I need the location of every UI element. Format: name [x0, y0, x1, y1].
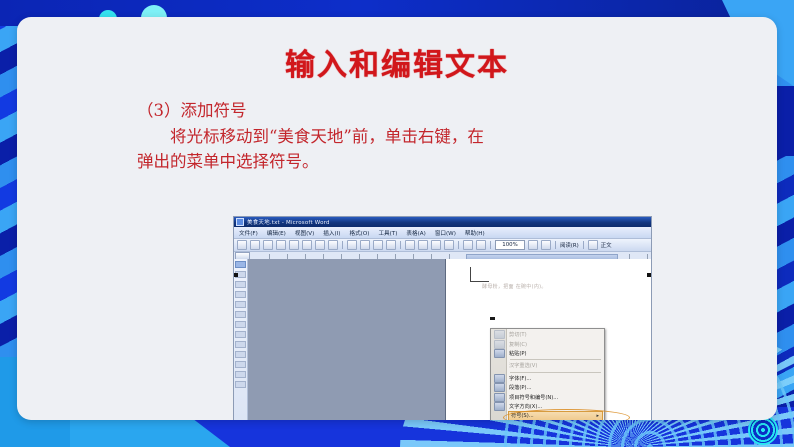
toolbar-tool-icon[interactable] — [235, 281, 246, 288]
menu-item-format[interactable]: 格式(O) — [349, 229, 369, 237]
format-painter-icon[interactable] — [386, 240, 396, 250]
word-application-screenshot: 美食天地.txt - Microsoft Word 文件(F) 编辑(E) 视图… — [233, 216, 652, 420]
menu-item-table[interactable]: 表格(A) — [406, 229, 425, 237]
word-gray-pane — [248, 259, 446, 420]
word-app-icon — [236, 218, 244, 226]
context-menu-items: 剪切(T) 复制(C) 粘贴(P) 汉字重选(V) — [507, 329, 604, 420]
toolbar-tool-icon[interactable] — [235, 301, 246, 308]
selection-handle[interactable] — [234, 273, 238, 277]
toolbar-tool-icon[interactable] — [235, 311, 246, 318]
text-cursor-marker — [470, 267, 489, 282]
spellcheck-icon[interactable] — [328, 240, 338, 250]
context-menu-item-copy[interactable]: 复制(C) — [507, 339, 604, 348]
print-icon[interactable] — [302, 240, 312, 250]
context-menu-label: 汉字重选(V) — [509, 362, 537, 369]
toolbar-separator — [583, 241, 584, 249]
redo-dropdown-icon[interactable] — [444, 240, 454, 250]
menu-item-edit[interactable]: 编辑(E) — [267, 229, 286, 237]
context-menu-item-font[interactable]: 字体(F)... — [507, 374, 604, 383]
context-menu-item-symbol[interactable]: 符号(S)... ▸ — [508, 411, 603, 420]
menu-item-window[interactable]: 窗口(W) — [435, 229, 456, 237]
help-icon[interactable] — [541, 240, 551, 250]
paste-icon[interactable] — [373, 240, 383, 250]
context-menu-label: 文字方向(X)... — [509, 403, 542, 410]
context-menu-label: 复制(C) — [509, 341, 527, 348]
toolbar-tool-icon[interactable] — [235, 381, 246, 388]
style-name-box[interactable]: 正文 — [601, 241, 612, 249]
word-title-text: 美食天地.txt - Microsoft Word — [247, 218, 330, 226]
context-menu-label: 段落(P)... — [509, 384, 532, 391]
cut-icon[interactable] — [347, 240, 357, 250]
word-document-body: 酵母粉，把面 在碗中(内)。 剪切(T) 复制(C) — [234, 259, 651, 420]
context-menu-label: 粘贴(P) — [509, 350, 527, 357]
font-icon — [494, 374, 505, 383]
paragraph-icon — [494, 383, 505, 392]
selection-marker — [490, 317, 495, 320]
slide-body: （3）添加符号 将光标移动到“美食天地”前，单击右键，在 弹出的菜单中选择符号。 — [137, 98, 677, 175]
styles-pane-icon[interactable] — [588, 240, 598, 250]
toolbar-separator — [555, 241, 556, 249]
redo-icon[interactable] — [431, 240, 441, 250]
slide-card: 输入和编辑文本 （3）添加符号 将光标移动到“美食天地”前，单击右键，在 弹出的… — [17, 17, 777, 420]
context-menu-item-cut[interactable]: 剪切(T) — [507, 330, 604, 339]
context-menu-separator — [510, 372, 601, 373]
copy-icon[interactable] — [360, 240, 370, 250]
insert-table-icon[interactable] — [476, 240, 486, 250]
selection-handle[interactable] — [647, 273, 651, 277]
text-direction-icon — [494, 402, 505, 411]
context-menu-item-reselect-hanzi[interactable]: 汉字重选(V) — [507, 361, 604, 370]
toolbar-separator — [490, 241, 491, 249]
word-standard-toolbar: 100% 阅读(R) 正文 — [234, 239, 651, 252]
document-text: 酵母粉，把面 在碗中(内)。 — [482, 283, 602, 293]
zoom-dropdown-icon[interactable] — [528, 240, 538, 250]
word-menu-bar: 文件(F) 编辑(E) 视图(V) 插入(I) 格式(O) 工具(T) 表格(A… — [234, 227, 651, 239]
toolbar-separator — [400, 241, 401, 249]
toolbar-separator — [342, 241, 343, 249]
context-menu-item-paragraph[interactable]: 段落(P)... — [507, 383, 604, 392]
toolbar-tool-select-icon[interactable] — [235, 261, 246, 268]
body-line-2: 将光标移动到“美食天地”前，单击右键，在 — [137, 124, 677, 150]
toolbar-tool-icon[interactable] — [235, 371, 246, 378]
zoom-level-select[interactable]: 100% — [495, 240, 525, 250]
insert-hyperlink-icon[interactable] — [463, 240, 473, 250]
undo-dropdown-icon[interactable] — [418, 240, 428, 250]
context-menu-item-paste[interactable]: 粘贴(P) — [507, 349, 604, 358]
context-menu-label: 项目符号和编号(N)... — [509, 394, 558, 401]
toolbar-tool-icon[interactable] — [235, 321, 246, 328]
body-line-3: 弹出的菜单中选择符号。 — [137, 149, 677, 175]
context-menu-item-bullets-numbering[interactable]: 项目符号和编号(N)... — [507, 392, 604, 401]
submenu-arrow-icon: ▸ — [596, 413, 599, 419]
reading-layout-button[interactable]: 阅读(R) — [560, 241, 579, 249]
context-menu-separator — [510, 359, 601, 360]
menu-item-tools[interactable]: 工具(T) — [378, 229, 397, 237]
bullets-icon — [494, 393, 505, 402]
context-menu-label: 剪切(T) — [509, 331, 527, 338]
toolbar-tool-icon[interactable] — [235, 291, 246, 298]
context-menu-label: 字体(F)... — [509, 375, 531, 382]
menu-item-insert[interactable]: 插入(I) — [323, 229, 340, 237]
context-menu-item-text-direction[interactable]: 文字方向(X)... — [507, 402, 604, 411]
scissors-icon — [494, 330, 505, 339]
open-folder-icon[interactable] — [250, 240, 260, 250]
new-document-icon[interactable] — [237, 240, 247, 250]
toolbar-tool-icon[interactable] — [235, 351, 246, 358]
word-drawing-toolbar — [234, 259, 248, 420]
menu-item-file[interactable]: 文件(F) — [239, 229, 258, 237]
body-line-1: （3）添加符号 — [137, 98, 677, 124]
menu-item-view[interactable]: 视图(V) — [295, 229, 314, 237]
undo-icon[interactable] — [405, 240, 415, 250]
permission-icon[interactable] — [276, 240, 286, 250]
paste-icon — [494, 349, 505, 358]
word-context-menu[interactable]: 剪切(T) 复制(C) 粘贴(P) 汉字重选(V) — [490, 328, 605, 420]
email-icon[interactable] — [289, 240, 299, 250]
menu-item-help[interactable]: 帮助(H) — [465, 229, 485, 237]
copy-icon — [494, 340, 505, 349]
toolbar-tool-icon[interactable] — [235, 361, 246, 368]
print-preview-icon[interactable] — [315, 240, 325, 250]
save-icon[interactable] — [263, 240, 273, 250]
toolbar-tool-icon[interactable] — [235, 341, 246, 348]
word-title-bar: 美食天地.txt - Microsoft Word — [234, 217, 651, 227]
context-menu-label: 符号(S)... — [511, 412, 534, 419]
page-title: 输入和编辑文本 — [17, 40, 777, 84]
toolbar-tool-icon[interactable] — [235, 331, 246, 338]
toolbar-separator — [458, 241, 459, 249]
